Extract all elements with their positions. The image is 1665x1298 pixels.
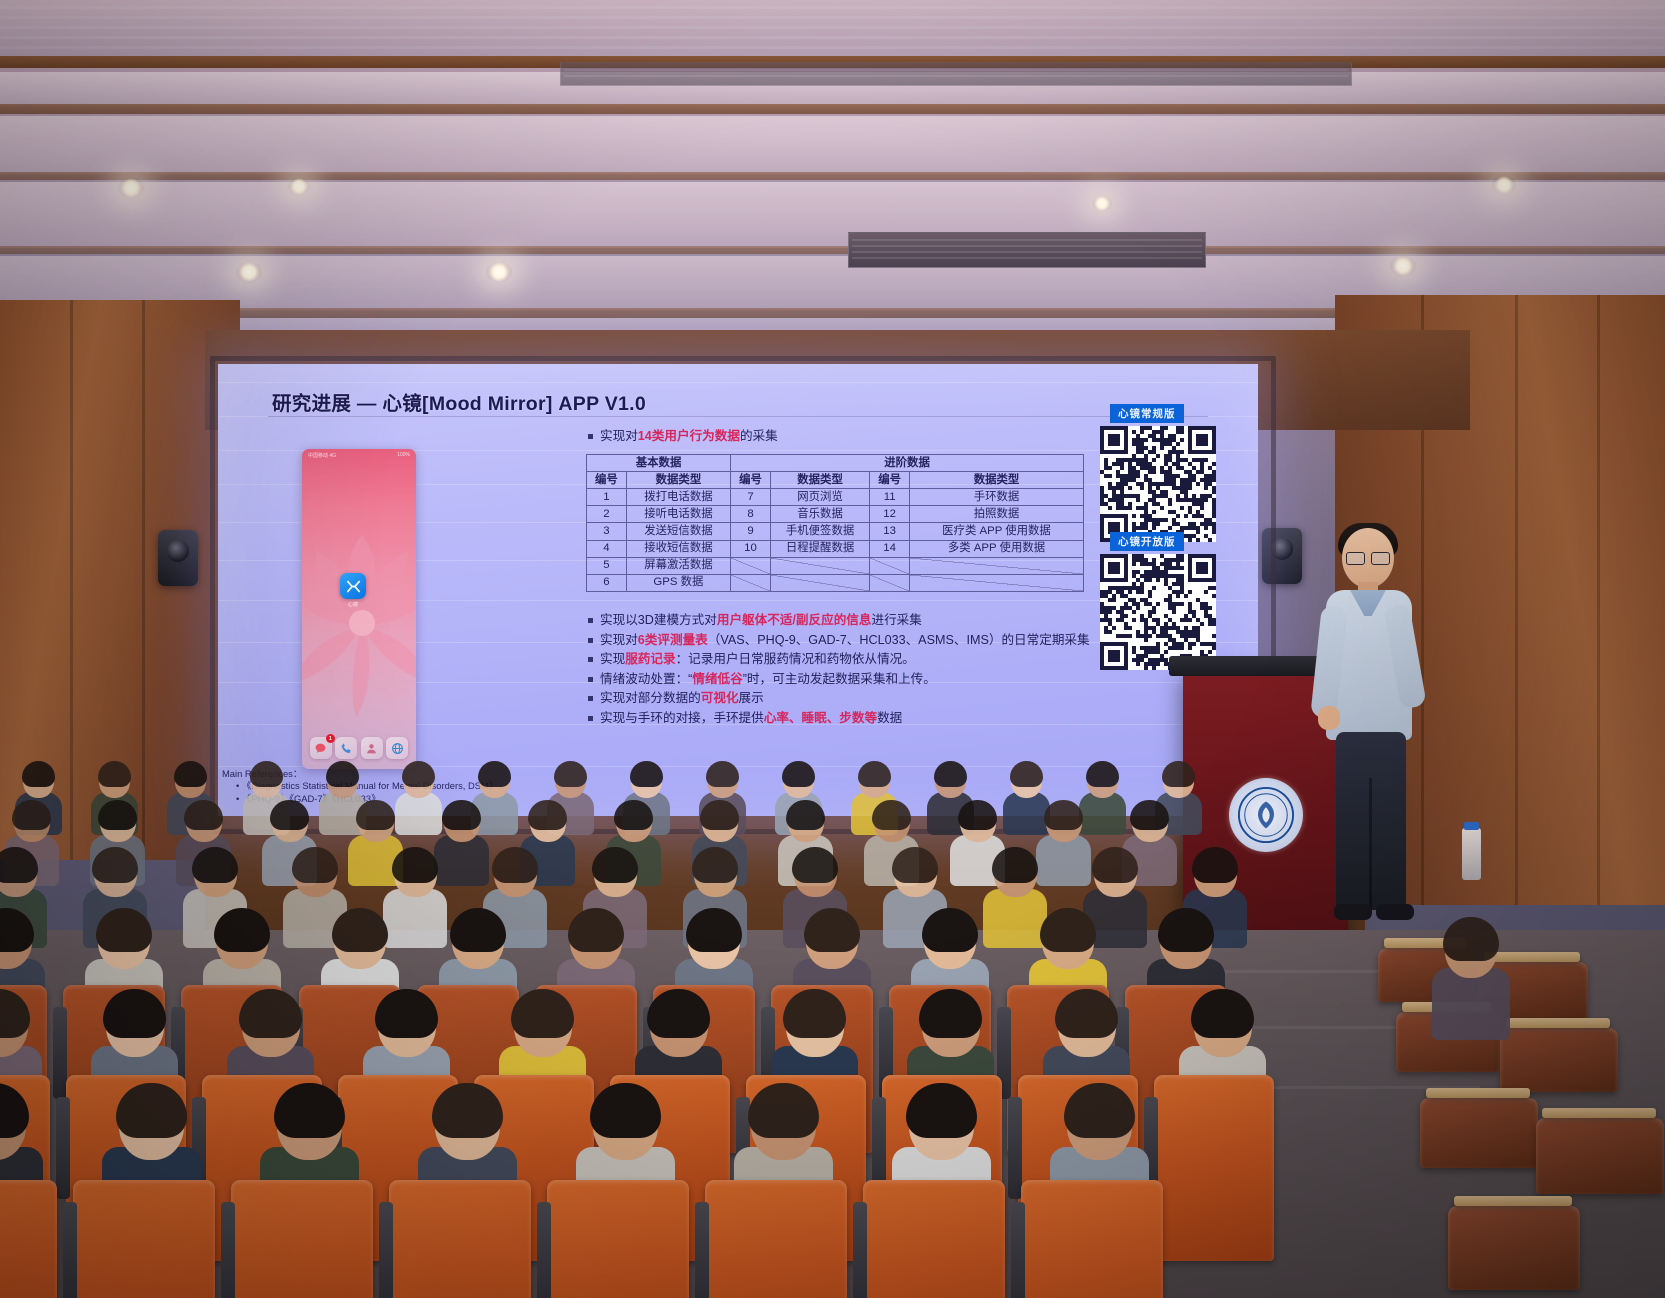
qr-badge-label-open: 心镜开放版 — [1110, 532, 1184, 551]
auditorium-seat-empty — [1536, 1118, 1664, 1194]
ceiling-light — [118, 178, 144, 198]
table-row: 2接听电话数据8音乐数据12拍照数据 — [587, 506, 1084, 523]
hair — [392, 847, 438, 883]
cell-no1: 5 — [587, 557, 627, 574]
hair — [174, 761, 208, 787]
auditorium-seat — [547, 1180, 689, 1298]
hair — [12, 800, 51, 831]
audience-member — [1440, 920, 1502, 1030]
ceiling-light — [486, 262, 512, 282]
title-divider — [268, 416, 1208, 417]
hair — [450, 908, 506, 952]
cell-type3: 拍照数据 — [910, 506, 1084, 523]
qr-code-icon-regular[interactable] — [1100, 426, 1216, 542]
audience-member — [1084, 763, 1121, 829]
seat-armrest — [537, 1202, 551, 1298]
hair — [0, 908, 34, 952]
torso — [434, 835, 489, 885]
auditorium-seat — [73, 1180, 215, 1298]
hair — [192, 847, 238, 883]
cell-no1: 2 — [587, 506, 627, 523]
seat-armrest — [1011, 1202, 1025, 1298]
university-emblem — [1229, 778, 1303, 852]
app-label: 心镜 — [328, 601, 378, 608]
phone-dock: 1 — [302, 733, 416, 763]
hair — [804, 908, 860, 952]
auditorium-seat — [389, 1180, 531, 1298]
table-group-header-row: 基本数据 进阶数据 — [587, 455, 1084, 472]
cell-no3: 14 — [870, 540, 910, 557]
group-basic: 基本数据 — [587, 455, 731, 472]
air-vent — [560, 62, 1352, 86]
audience-member — [390, 849, 441, 939]
bullet-text: 实现对6类评测量表（VAS、PHQ-9、GAD-7、HCL033、ASMS、IM… — [600, 632, 1090, 648]
hair — [103, 989, 166, 1038]
th-no-3: 编号 — [870, 472, 910, 489]
cell-no3: 13 — [870, 523, 910, 540]
slide-title: 研究进展 — 心镜[Mood Mirror] APP V1.0 — [272, 387, 646, 416]
ceiling — [0, 0, 1665, 345]
hair — [356, 800, 395, 831]
hair — [1443, 917, 1499, 961]
cell-type1: 发送短信数据 — [626, 523, 730, 540]
hair — [783, 989, 846, 1038]
th-type-1: 数据类型 — [626, 472, 730, 489]
audience-member — [440, 802, 483, 879]
cell-type1: 接收短信数据 — [626, 540, 730, 557]
hair — [568, 908, 624, 952]
bullet-text: 实现对14类用户行为数据的采集 — [600, 428, 778, 444]
auditorium-seat-empty — [1420, 1098, 1538, 1168]
cell-no1: 6 — [587, 574, 627, 591]
auditorium-seat-empty — [1448, 1206, 1580, 1290]
cell-no2: 7 — [731, 489, 771, 506]
lecture-hall-photo: 研究进展 — 心镜[Mood Mirror] APP V1.0 中国移动 4G … — [0, 0, 1665, 1298]
hair — [934, 761, 968, 787]
hair — [922, 908, 978, 952]
cell-no3 — [870, 557, 910, 574]
hair — [22, 761, 56, 787]
shoe — [1334, 904, 1372, 920]
hair — [92, 847, 138, 883]
torso — [383, 889, 447, 948]
folding-desk — [1426, 1088, 1530, 1098]
hair — [1055, 989, 1118, 1038]
audience-member — [1008, 763, 1045, 829]
cell-no3: 12 — [870, 506, 910, 523]
hair — [184, 800, 223, 831]
hair — [402, 761, 436, 787]
bullet-text: 情绪波动处置：“情绪低谷”时，可主动发起数据采集和上传。 — [600, 671, 936, 687]
cell-type3: 医疗类 APP 使用数据 — [910, 523, 1084, 540]
hair — [614, 800, 653, 831]
bullet-square-icon — [588, 657, 593, 662]
cell-type1: 屏幕激活数据 — [626, 557, 730, 574]
cell-type2: 网页浏览 — [770, 489, 869, 506]
th-type-2: 数据类型 — [770, 472, 869, 489]
slide-bullet-list: 实现以3D建模方式对用户躯体不适/副反应的信息进行采集实现对6类评测量表（VAS… — [588, 612, 1090, 730]
bullet-text: 实现与手环的对接，手环提供心率、睡眠、步数等数据 — [600, 710, 902, 726]
unread-badge: 1 — [326, 734, 335, 743]
wall-speaker-icon — [158, 530, 198, 586]
slide-bullet: 实现对部分数据的可视化展示 — [588, 690, 1090, 706]
cell-type3: 多类 APP 使用数据 — [910, 540, 1084, 557]
lotus-flower-wallpaper — [302, 527, 416, 717]
hair — [250, 761, 284, 787]
cell-type2 — [770, 557, 869, 574]
th-type-3: 数据类型 — [910, 472, 1084, 489]
hair — [292, 847, 338, 883]
status-left: 中国移动 4G — [308, 452, 336, 459]
seat-armrest — [853, 1202, 867, 1298]
hair — [492, 847, 538, 883]
bullet-square-icon — [588, 638, 593, 643]
hair — [274, 1083, 345, 1138]
seat-armrest — [221, 1202, 235, 1298]
th-no-2: 编号 — [731, 472, 771, 489]
cell-no1: 1 — [587, 489, 627, 506]
browser-icon[interactable] — [386, 737, 408, 759]
qr-code-icon-open[interactable] — [1100, 554, 1216, 670]
hair — [748, 1083, 819, 1138]
folding-desk — [1506, 1018, 1610, 1028]
torso — [395, 792, 442, 835]
table-row: 3发送短信数据9手机便签数据13医疗类 APP 使用数据 — [587, 523, 1084, 540]
table-row: 4接收短信数据10日程提醒数据14多类 APP 使用数据 — [587, 540, 1084, 557]
auditorium-seat — [863, 1180, 1005, 1298]
cell-no1: 3 — [587, 523, 627, 540]
folding-desk — [1454, 1196, 1572, 1206]
glasses-icon — [1346, 552, 1390, 563]
hair — [872, 800, 911, 831]
hair — [1158, 908, 1214, 952]
cell-no3: 11 — [870, 489, 910, 506]
hair — [0, 847, 38, 883]
slide-bullet: 实现与手环的对接，手环提供心率、睡眠、步数等数据 — [588, 710, 1090, 726]
seat-armrest — [53, 1007, 67, 1099]
hair — [590, 1083, 661, 1138]
hair — [116, 1083, 187, 1138]
table-row: 1拨打电话数据7网页浏览11手环数据 — [587, 489, 1084, 506]
slide-bullet: 实现以3D建模方式对用户躯体不适/副反应的信息进行采集 — [588, 612, 1090, 628]
auditorium-seat — [1021, 1180, 1163, 1298]
hair — [1010, 761, 1044, 787]
cell-type2: 手机便签数据 — [770, 523, 869, 540]
slide-bullet: 情绪波动处置：“情绪低谷”时，可主动发起数据采集和上传。 — [588, 671, 1090, 687]
hair — [442, 800, 481, 831]
hair — [1064, 1083, 1135, 1138]
status-right: 100% — [397, 452, 410, 458]
cell-no1: 4 — [587, 540, 627, 557]
hair — [1092, 847, 1138, 883]
hair — [375, 989, 438, 1038]
audience-member — [990, 849, 1041, 939]
cell-no2: 10 — [731, 540, 771, 557]
cell-no2: 8 — [731, 506, 771, 523]
bullet-square-icon — [588, 618, 593, 623]
cell-type3 — [910, 557, 1084, 574]
hair — [792, 847, 838, 883]
hair — [0, 989, 30, 1038]
air-vent — [848, 232, 1206, 268]
cell-no2: 9 — [731, 523, 771, 540]
folding-desk — [1542, 1108, 1656, 1118]
hair — [692, 847, 738, 883]
ceiling-light — [236, 262, 262, 282]
mood-mirror-app-icon[interactable] — [340, 573, 366, 599]
hair — [432, 1083, 503, 1138]
hair — [478, 761, 512, 787]
auditorium-seat — [705, 1180, 847, 1298]
hair — [706, 761, 740, 787]
shoe — [1376, 904, 1414, 920]
hair — [239, 989, 302, 1038]
hair — [1086, 761, 1120, 787]
bullet-data-collection: 实现对14类用户行为数据的采集 — [588, 428, 778, 444]
seat-armrest — [56, 1097, 70, 1199]
cell-type3: 手环数据 — [910, 489, 1084, 506]
auditorium-seat — [231, 1180, 373, 1298]
hair — [1130, 800, 1169, 831]
hair — [919, 989, 982, 1038]
hair — [992, 847, 1038, 883]
water-bottle — [1462, 828, 1481, 880]
hair — [1040, 908, 1096, 952]
hair — [332, 908, 388, 952]
bullet-square-icon — [588, 716, 593, 721]
hair — [892, 847, 938, 883]
ceiling-light — [1092, 196, 1112, 211]
cell-no2 — [731, 557, 771, 574]
torso — [1036, 835, 1091, 885]
bullet-square-icon — [588, 434, 593, 439]
auditorium-seat — [1154, 1075, 1274, 1261]
hair — [858, 761, 892, 787]
cell-type1: GPS 数据 — [626, 574, 730, 591]
table-row: 5屏幕激活数据 — [587, 557, 1084, 574]
contacts-icon[interactable] — [361, 737, 383, 759]
hair — [96, 908, 152, 952]
auditorium-seat — [0, 1180, 57, 1298]
bullet-text: 实现对部分数据的可视化展示 — [600, 690, 764, 706]
seat-armrest — [1008, 1097, 1022, 1199]
hair — [98, 761, 132, 787]
hair — [1192, 847, 1238, 883]
hair — [958, 800, 997, 831]
th-no-1: 编号 — [587, 472, 627, 489]
cell-type2 — [770, 574, 869, 591]
hair — [1162, 761, 1196, 787]
hair — [630, 761, 664, 787]
hair — [270, 800, 309, 831]
bullet-square-icon — [588, 696, 593, 701]
hair — [782, 761, 816, 787]
slide-bullet: 实现服药记录：记录用户日常服药情况和药物依从情况。 — [588, 651, 1090, 667]
hair — [592, 847, 638, 883]
torso — [1432, 968, 1510, 1040]
cell-type2: 音乐数据 — [770, 506, 869, 523]
data-type-table: 基本数据 进阶数据 编号 数据类型 编号 数据类型 编号 数据类型 1拨打电话数… — [586, 454, 1084, 592]
hair — [528, 800, 567, 831]
hair — [1044, 800, 1083, 831]
hair — [700, 800, 739, 831]
torso — [1079, 792, 1126, 835]
messages-icon[interactable]: 1 — [310, 737, 332, 759]
qr-badge-label-regular: 心镜常规版 — [1110, 404, 1184, 423]
cell-type3 — [910, 574, 1084, 591]
hair — [98, 800, 137, 831]
projection-screen[interactable]: 研究进展 — 心镜[Mood Mirror] APP V1.0 中国移动 4G … — [218, 364, 1258, 816]
table-header-row: 编号 数据类型 编号 数据类型 编号 数据类型 — [587, 472, 1084, 489]
ceiling-light — [288, 178, 310, 195]
hair — [786, 800, 825, 831]
audience-member — [400, 763, 437, 829]
group-advanced: 进阶数据 — [731, 455, 1084, 472]
cell-no3 — [870, 574, 910, 591]
cell-type1: 拨打电话数据 — [626, 489, 730, 506]
hair — [0, 1083, 29, 1138]
seat-armrest — [695, 1202, 709, 1298]
hair — [906, 1083, 977, 1138]
hair — [1191, 989, 1254, 1038]
hair — [686, 908, 742, 952]
ceiling-light — [1492, 176, 1516, 194]
auditorium-seat-empty — [1500, 1028, 1618, 1092]
hair — [214, 908, 270, 952]
ceiling-light — [1390, 256, 1416, 276]
seat-armrest — [379, 1202, 393, 1298]
hair — [326, 761, 360, 787]
hair — [647, 989, 710, 1038]
phone-icon[interactable] — [335, 737, 357, 759]
cell-type2: 日程提醒数据 — [770, 540, 869, 557]
table-row: 6GPS 数据 — [587, 574, 1084, 591]
hair — [554, 761, 588, 787]
audience-member — [1042, 802, 1085, 879]
hair — [511, 989, 574, 1038]
cell-type1: 接听电话数据 — [626, 506, 730, 523]
slide-bullet: 实现对6类评测量表（VAS、PHQ-9、GAD-7、HCL033、ASMS、IM… — [588, 632, 1090, 648]
phone-mockup: 中国移动 4G 100% — [302, 449, 416, 769]
seat-armrest — [63, 1202, 77, 1298]
presenter-standing — [1320, 528, 1435, 948]
phone-status-bar: 中国移动 4G 100% — [302, 449, 416, 461]
cell-no2 — [731, 574, 771, 591]
bullet-text: 实现以3D建模方式对用户躯体不适/副反应的信息进行采集 — [600, 612, 922, 628]
bullet-text: 实现服药记录：记录用户日常服药情况和药物依从情况。 — [600, 651, 915, 667]
bullet-square-icon — [588, 677, 593, 682]
